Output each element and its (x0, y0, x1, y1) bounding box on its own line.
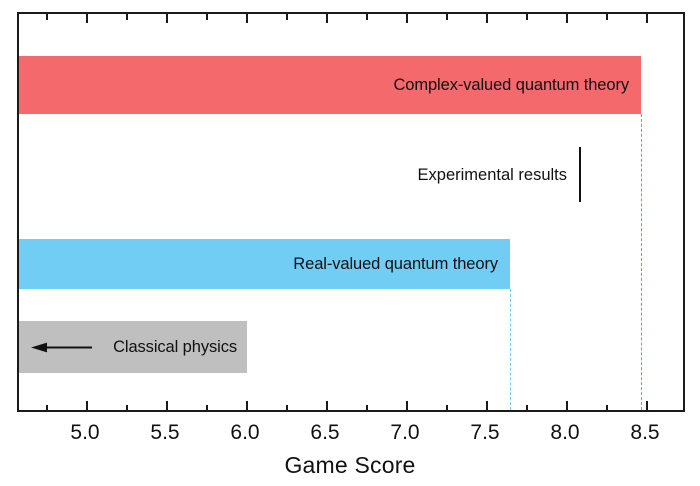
xtick-top-minor-6-25 (286, 14, 288, 20)
xtick-minor-6-75 (366, 405, 368, 411)
xticklabel-5-5: 5.5 (150, 421, 179, 445)
bar-label-real-valued-quantum-theory: Real-valued quantum theory (293, 255, 510, 274)
plot-frame: Complex-valued quantum theory Experiment… (17, 12, 685, 412)
xtick-top-6-0 (246, 14, 248, 23)
dashed-line-complex-valued-quantum-theory (641, 114, 642, 410)
bar-real-valued-quantum-theory[interactable]: Real-valued quantum theory (19, 239, 510, 289)
xticklabel-6-0: 6.0 (230, 421, 259, 445)
xtick-5-0 (86, 401, 88, 410)
xtick-8-0 (566, 401, 568, 410)
bar-complex-valued-quantum-theory[interactable]: Complex-valued quantum theory (19, 56, 641, 114)
xtick-top-5-5 (166, 14, 168, 23)
xtick-minor-7-75 (526, 405, 528, 411)
xticklabel-5-0: 5.0 (70, 421, 99, 445)
xtick-6-0 (246, 401, 248, 410)
xtick-top-6-5 (326, 14, 328, 23)
xtick-top-minor-4-75 (46, 14, 48, 20)
xtick-top-8-0 (566, 14, 568, 23)
xtick-minor-4-75 (46, 405, 48, 411)
xtick-top-7-0 (406, 14, 408, 23)
xtick-top-7-5 (486, 14, 488, 23)
xtick-6-5 (326, 401, 328, 410)
bar-label-complex-valued-quantum-theory: Complex-valued quantum theory (393, 76, 641, 95)
xtick-7-5 (486, 401, 488, 410)
xtick-top-minor-7-75 (526, 14, 528, 20)
experimental-results-errorbar[interactable] (579, 147, 581, 202)
xtick-minor-6-25 (286, 405, 288, 411)
plot-area: Complex-valued quantum theory Experiment… (19, 14, 683, 410)
xticklabel-8-0: 8.0 (550, 421, 579, 445)
xtick-top-minor-5-25 (126, 14, 128, 20)
xtick-top-minor-8-25 (606, 14, 608, 20)
xtick-top-minor-5-75 (206, 14, 208, 20)
bar-label-classical-physics: Classical physics (113, 338, 247, 357)
xtick-minor-7-25 (446, 405, 448, 411)
xticklabel-7-5: 7.5 (470, 421, 499, 445)
xtick-5-5 (166, 401, 168, 410)
xtick-minor-5-25 (126, 405, 128, 411)
x-axis-label: Game Score (0, 452, 700, 479)
xticklabel-7-0: 7.0 (390, 421, 419, 445)
xticklabel-6-5: 6.5 (310, 421, 339, 445)
xtick-top-minor-7-25 (446, 14, 448, 20)
chart-figure: Complex-valued quantum theory Experiment… (0, 0, 700, 486)
xtick-minor-5-75 (206, 405, 208, 411)
xtick-top-minor-6-75 (366, 14, 368, 20)
xtick-7-0 (406, 401, 408, 410)
xtick-top-5-0 (86, 14, 88, 23)
left-arrow-icon (31, 341, 93, 354)
dashed-line-real-valued-quantum-theory (510, 289, 511, 410)
experimental-results-label: Experimental results (379, 166, 567, 185)
xticklabel-8-5: 8.5 (630, 421, 659, 445)
xtick-top-8-5 (646, 14, 648, 23)
xtick-minor-8-25 (606, 405, 608, 411)
xtick-8-5 (646, 401, 648, 410)
